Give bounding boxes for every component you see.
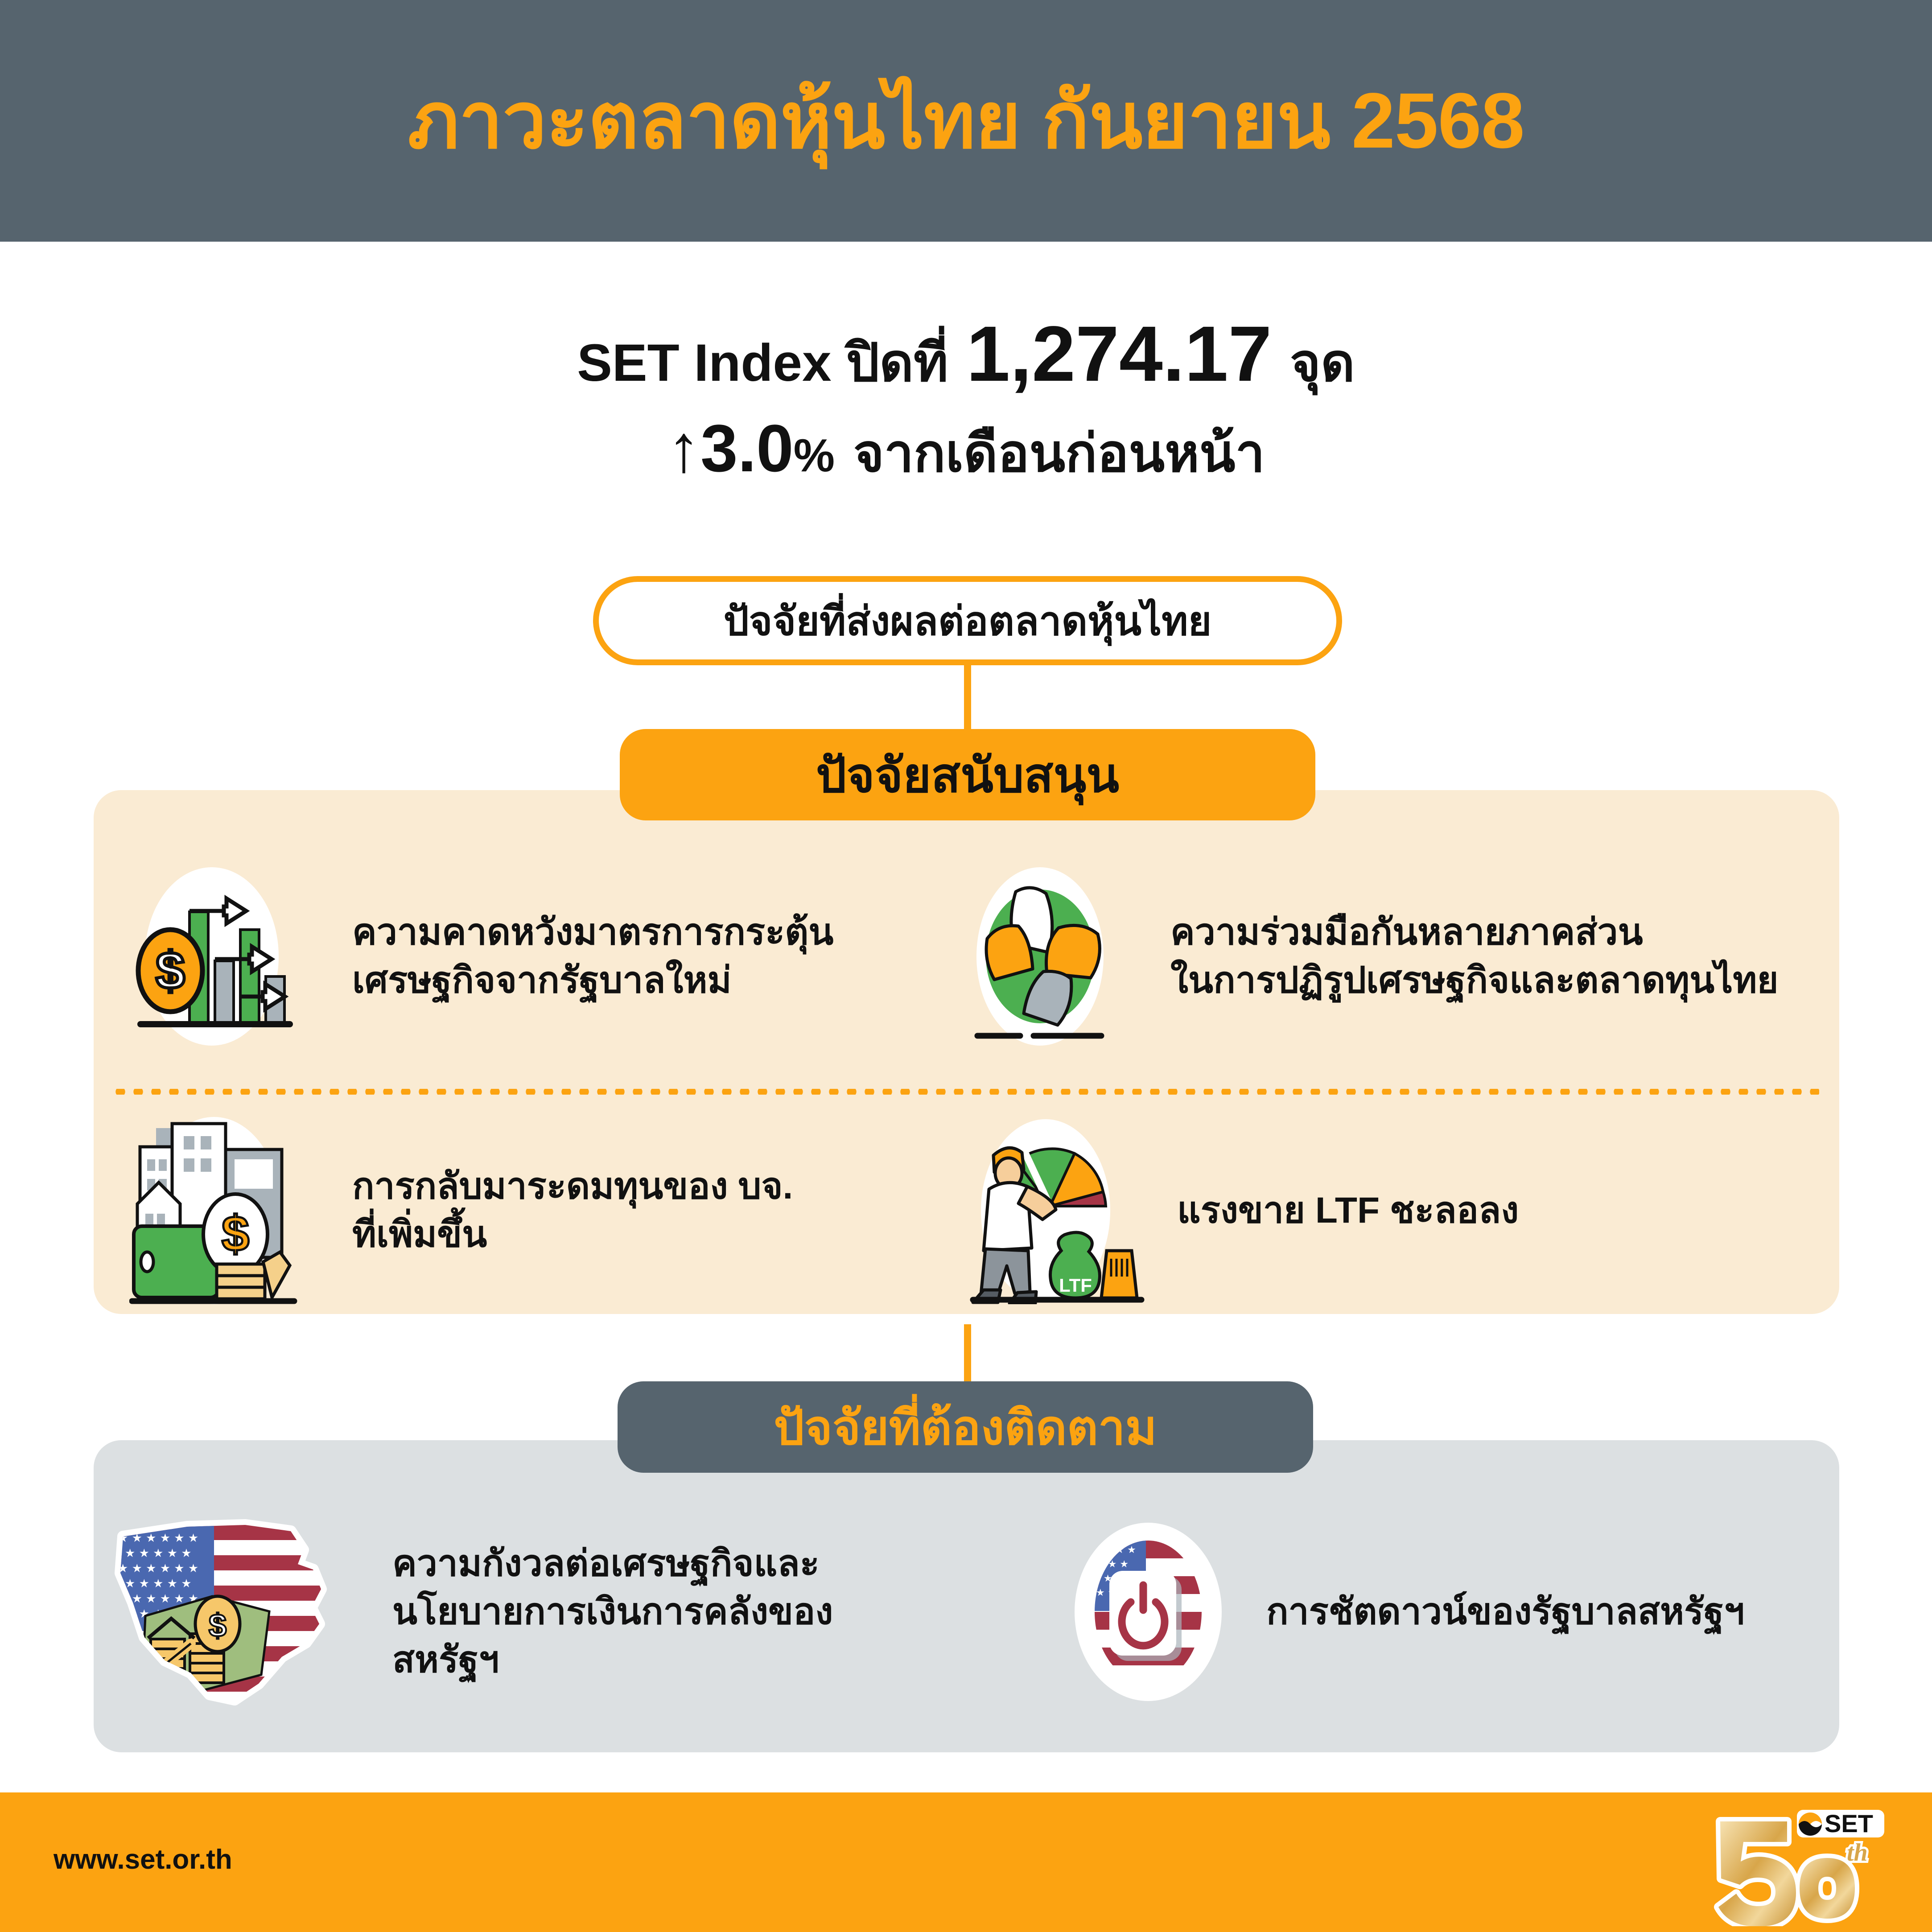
set-logo-anniversary-suffix: th — [1847, 1839, 1868, 1866]
worker-gauge-ltf-bag-icon: LTF — [968, 1117, 1146, 1304]
footer-url[interactable]: www.set.or.th — [54, 1844, 232, 1875]
watch-item-1-line3: สหรัฐฯ — [392, 1636, 833, 1684]
usa-flag-power-button-icon: ★ ★ ★ ★★ ★ ★ ★ ★ ★ ★★ ★ ★ — [1070, 1523, 1248, 1701]
support-item-1-line2: เศรษฐกิจจากรัฐบาลใหม่ — [352, 956, 833, 1005]
watch-badge: ปัจจัยที่ต้องติดตาม — [618, 1381, 1313, 1473]
change-unit: % — [794, 430, 835, 482]
dollar-coin-growth-chart-icon: $ — [129, 867, 325, 1046]
watch-item-1: ★ ★ ★ ★ ★ ★★ ★ ★ ★ ★ ★ ★ ★ ★ ★ ★★ ★ ★ ★ … — [111, 1503, 972, 1721]
page-header: ภาวะตลาดหุ้นไทย กันยายน 2568 — [0, 0, 1932, 242]
factors-pill: ปัจจัยที่ส่งผลต่อตลาดหุ้นไทย — [593, 576, 1342, 665]
support-item-1-text: ความคาดหวังมาตรการกระตุ้น เศรษฐกิจจากรัฐ… — [352, 908, 833, 1005]
set-index-value: 1,274.17 — [966, 310, 1272, 398]
watch-item-2-text: การชัตดาวน์ของรัฐบาลสหรัฐฯ — [1266, 1588, 1744, 1636]
svg-text:★ ★ ★ ★: ★ ★ ★ ★ — [1092, 1545, 1136, 1556]
connector-line-top — [964, 665, 971, 730]
support-badge-label: ปัจจัยสนับสนุน — [816, 737, 1119, 813]
support-item-4: LTF แรงขาย LTF ชะลอลง — [968, 1115, 1828, 1306]
factors-pill-label: ปัจจัยที่ส่งผลต่อตลาดหุ้นไทย — [724, 589, 1212, 653]
watch-badge-label: ปัจจัยที่ต้องติดตาม — [774, 1389, 1157, 1466]
support-item-3: $ การกลับมาระดมทุนของ บจ. ที่เพิ่มขึ้น — [129, 1115, 959, 1306]
set-index-unit: จุด — [1290, 334, 1355, 392]
svg-text:$: $ — [209, 1608, 227, 1644]
support-divider — [111, 1089, 1819, 1095]
watch-item-1-line2: นโยบายการเงินการคลังของ — [392, 1588, 833, 1636]
svg-text:★ ★ ★ ★ ★: ★ ★ ★ ★ ★ — [125, 1547, 192, 1560]
set-50th-logo: SET th — [1668, 1808, 1899, 1926]
set-index-change-line: ↑3.0% จากเดือนก่อนหน้า — [667, 407, 1265, 490]
svg-text:★ ★ ★: ★ ★ ★ — [1096, 1559, 1129, 1570]
support-item-3-text: การกลับมาระดมทุนของ บจ. ที่เพิ่มขึ้น — [352, 1162, 793, 1259]
page-footer — [0, 1792, 1932, 1932]
city-wallet-coins-icon: $ — [129, 1115, 325, 1306]
support-item-2-text: ความร่วมมือกันหลายภาคส่วน ในการปฏิรูปเศร… — [1170, 908, 1779, 1005]
usa-flag-map-money-icon: ★ ★ ★ ★ ★ ★★ ★ ★ ★ ★ ★ ★ ★ ★ ★ ★★ ★ ★ ★ … — [111, 1507, 379, 1717]
set-logo-text: SET — [1825, 1809, 1873, 1837]
up-arrow-icon: ↑ — [667, 411, 700, 486]
support-item-4-line1: แรงขาย LTF ชะลอลง — [1177, 1186, 1519, 1235]
watch-item-1-text: ความกังวลต่อเศรษฐกิจและ นโยบายการเงินการ… — [392, 1540, 833, 1685]
svg-text:★ ★ ★ ★ ★: ★ ★ ★ ★ ★ — [125, 1577, 192, 1590]
watch-item-2-line1: การชัตดาวน์ของรัฐบาลสหรัฐฯ — [1266, 1588, 1744, 1636]
set-index-label: SET Index ปิดที่ — [577, 334, 948, 392]
watch-item-1-line1: ความกังวลต่อเศรษฐกิจและ — [392, 1540, 833, 1588]
collaborating-hands-icon — [968, 867, 1146, 1046]
watch-item-2: ★ ★ ★ ★★ ★ ★ ★ ★ ★ ★★ ★ ★ การชัตดาวน์ของ… — [1070, 1516, 1828, 1708]
change-value: 3.0 — [700, 411, 794, 486]
set-index-line: SET Index ปิดที่ 1,274.17 จุด — [577, 305, 1355, 403]
support-item-2-line1: ความร่วมมือกันหลายภาคส่วน — [1170, 908, 1779, 956]
support-item-1-line1: ความคาดหวังมาตรการกระตุ้น — [352, 908, 833, 956]
support-item-2-line2: ในการปฏิรูปเศรษฐกิจและตลาดทุนไทย — [1170, 956, 1779, 1005]
svg-text:★ ★ ★ ★ ★ ★: ★ ★ ★ ★ ★ ★ — [118, 1562, 198, 1575]
support-item-4-text: แรงขาย LTF ชะลอลง — [1177, 1186, 1519, 1235]
support-item-2: ความร่วมมือกันหลายภาคส่วน ในการปฏิรูปเศร… — [968, 861, 1828, 1052]
svg-text:$: $ — [222, 1206, 249, 1261]
change-period: จากเดือนก่อนหน้า — [853, 424, 1265, 483]
svg-text:LTF: LTF — [1059, 1275, 1092, 1296]
connector-line-bottom — [964, 1324, 971, 1383]
page-title: ภาวะตลาดหุ้นไทย กันยายน 2568 — [408, 82, 1524, 160]
svg-text:$: $ — [156, 941, 185, 1000]
support-item-3-line1: การกลับมาระดมทุนของ บจ. — [352, 1162, 793, 1211]
support-item-3-line2: ที่เพิ่มขึ้น — [352, 1211, 793, 1259]
hero-summary: SET Index ปิดที่ 1,274.17 จุด ↑3.0% จากเ… — [0, 242, 1932, 554]
support-badge: ปัจจัยสนับสนุน — [620, 729, 1315, 820]
support-item-1: $ ความคาดหวังมาตรการกระตุ้น เศรษฐกิจจากร… — [129, 861, 959, 1052]
